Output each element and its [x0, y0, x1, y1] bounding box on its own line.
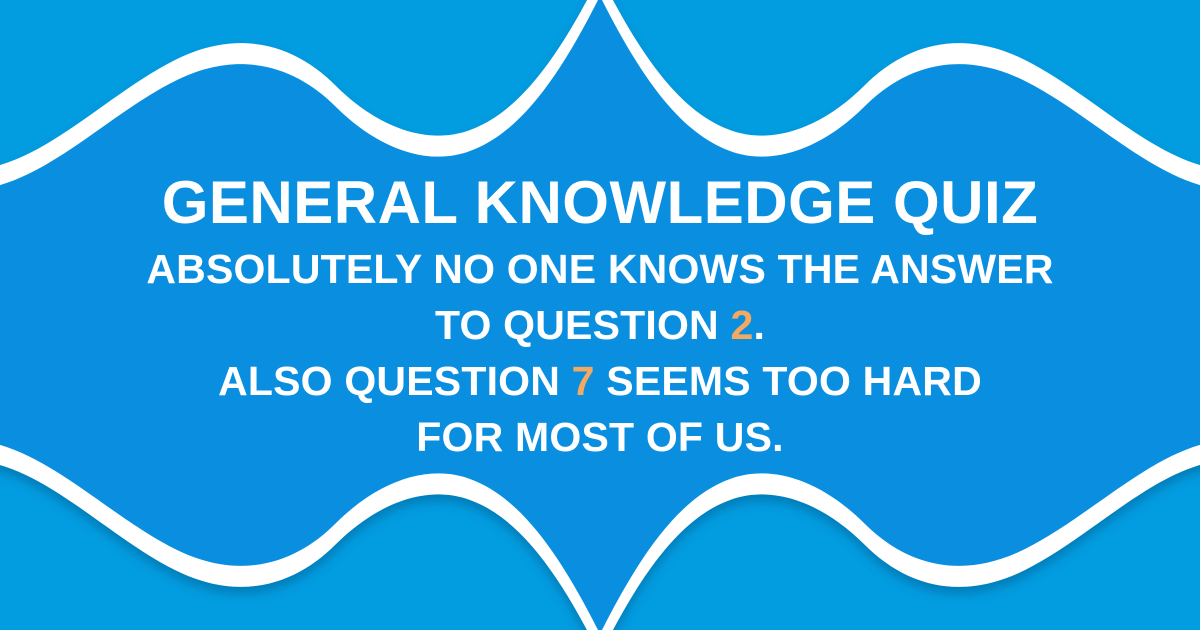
body-line-3: ALSO QUESTION 7 SEEMS TOO HARD [218, 353, 982, 409]
quiz-poster: GENERAL KNOWLEDGE QUIZ ABSOLUTELY NO ONE… [0, 0, 1200, 630]
body-line-4: FOR MOST OF US. [416, 409, 783, 465]
poster-content: GENERAL KNOWLEDGE QUIZ ABSOLUTELY NO ONE… [0, 0, 1200, 630]
highlight-question-number-1: 2 [730, 302, 753, 348]
body-line-2-suffix: . [753, 302, 765, 348]
body-line-2: TO QUESTION 2. [435, 297, 765, 353]
body-line-1: ABSOLUTELY NO ONE KNOWS THE ANSWER [146, 241, 1053, 297]
highlight-question-number-2: 7 [572, 358, 595, 404]
page-title: GENERAL KNOWLEDGE QUIZ [162, 172, 1039, 234]
body-line-3-suffix: SEEMS TOO HARD [595, 358, 982, 404]
body-line-3-prefix: ALSO QUESTION [218, 358, 572, 404]
body-line-2-prefix: TO QUESTION [435, 302, 731, 348]
